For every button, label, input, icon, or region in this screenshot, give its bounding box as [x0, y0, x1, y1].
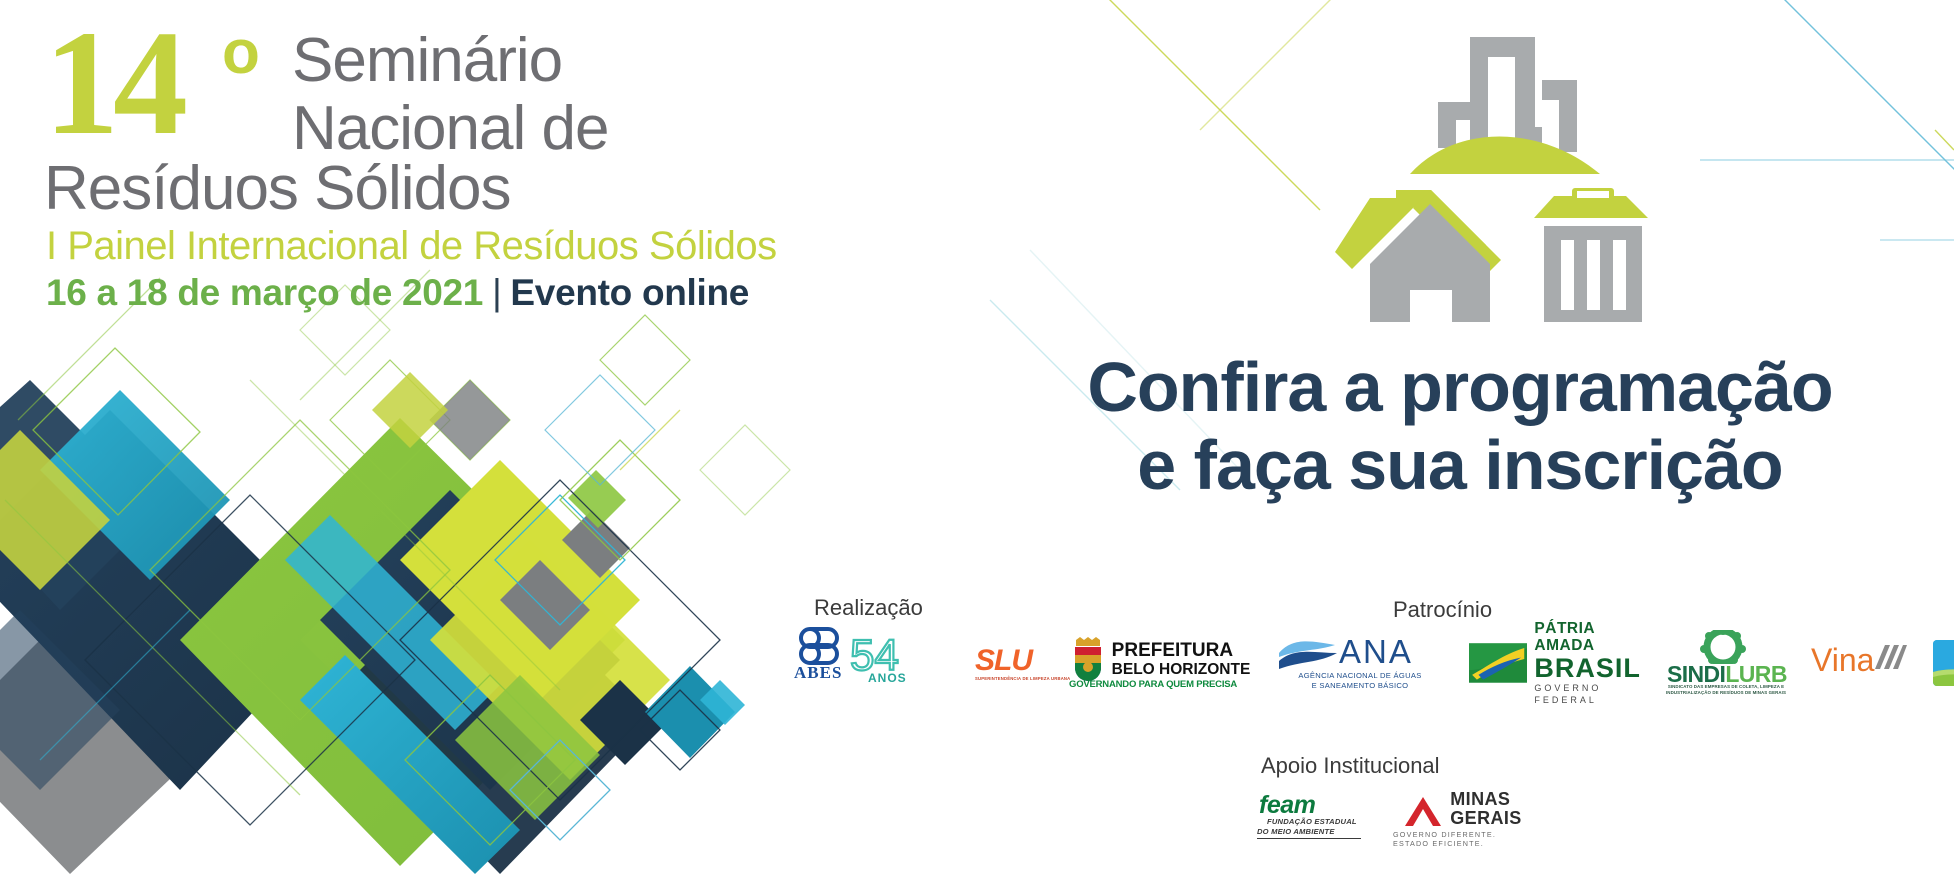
- cta-headline: Confira a programação e faça sua inscriç…: [980, 348, 1940, 504]
- title-line-1: Seminário: [292, 30, 562, 92]
- edition-number: 14: [44, 8, 182, 158]
- ana-wordmark: ANA: [1339, 635, 1413, 669]
- city-skyline-icon: [1438, 37, 1577, 152]
- slu-wordmark: SLU: [975, 644, 1032, 678]
- apoio-institucional-logos: feam FUNDAÇÃO ESTADUAL DO MEIO AMBIENTE …: [1255, 790, 1531, 842]
- cta-line-2: e faça sua inscrição: [980, 426, 1940, 504]
- slu-subtitle: SUPERINTENDÊNCIA DE LIMPEZA URBANA: [975, 676, 1043, 681]
- minas-gerais-tagline: GOVERNO DIFERENTE. ESTADO EFICIENTE.: [1393, 830, 1543, 849]
- vina-slashes-icon: [1873, 643, 1907, 673]
- ana-subtitle-line-1: AGÊNCIA NACIONAL DE ÁGUAS: [1277, 671, 1443, 681]
- minas-gerais-tagline-line-2: ESTADO EFICIENTE.: [1393, 839, 1543, 848]
- feam-wordmark: feam: [1259, 792, 1315, 818]
- brasil-line-3: GOVERNO FEDERAL: [1534, 682, 1641, 706]
- brasil-flag-icon: [1469, 638, 1527, 688]
- waste-management-illustration: [1335, 12, 1655, 322]
- event-dates: 16 a 18 de março de 2021: [46, 272, 483, 313]
- sindilurb-logo[interactable]: SINDILURB SINDICATO DAS EMPRESAS DE COLE…: [1667, 632, 1785, 694]
- dateline-separator: |: [483, 272, 510, 313]
- minas-gerais-logo[interactable]: MINAS GERAIS GOVERNO DIFERENTE. ESTADO E…: [1393, 790, 1531, 842]
- sindilurb-subtitle-line-1: SINDICATO DAS EMPRESAS DE COLETA, LIMPEZ…: [1661, 684, 1791, 690]
- vina-wordmark: Vina: [1811, 643, 1874, 677]
- patrocinio-logos: SLU SUPERINTENDÊNCIA DE LIMPEZA URBANA P…: [975, 632, 1954, 694]
- abes-anos-label: ANOS: [868, 671, 907, 685]
- sindilurb-people-circle-icon: [1693, 630, 1753, 664]
- brasil-text: PÁTRIA AMADA BRASIL GOVERNO FEDERAL: [1534, 620, 1641, 706]
- cisab-wordmark: cisab: [1933, 644, 1954, 672]
- brasil-line-2: BRASIL: [1534, 654, 1641, 682]
- ana-subtitle-line-2: E SANEAMENTO BÁSICO: [1277, 681, 1443, 691]
- feam-subtitle-line-2: DO MEIO AMBIENTE: [1257, 827, 1361, 839]
- vina-logo[interactable]: Vina: [1811, 641, 1907, 685]
- title-line-2: Nacional de: [292, 98, 608, 160]
- apoio-institucional-label: Apoio Institucional: [1261, 753, 1440, 779]
- title-line-3: Resíduos Sólidos: [44, 158, 511, 220]
- realizacao-label: Realização: [814, 595, 923, 621]
- ana-logo[interactable]: ANA AGÊNCIA NACIONAL DE ÁGUAS E SANEAMEN…: [1277, 637, 1443, 689]
- prefeitura-bh-logo[interactable]: PREFEITURA BELO HORIZONTE GOVERNANDO PAR…: [1069, 637, 1251, 689]
- governo-federal-logo[interactable]: PÁTRIA AMADA BRASIL GOVERNO FEDERAL: [1469, 635, 1641, 691]
- edition-line: 14 o Seminário Nacional de Resíduos Sóli…: [44, 14, 744, 174]
- minas-gerais-line-2: GERAIS: [1450, 809, 1521, 828]
- belo-horizonte-coat-of-arms-icon: [1070, 637, 1106, 683]
- sindilurb-subtitle-line-2: INDUSTRIALIZAÇÃO DE RESÍDUOS DE MINAS GE…: [1661, 690, 1791, 696]
- ana-wave-icon: [1277, 639, 1339, 673]
- feam-subtitle-line-1: FUNDAÇÃO ESTADUAL: [1267, 817, 1367, 827]
- abes-mark-icon: [796, 626, 850, 666]
- ana-subtitle: AGÊNCIA NACIONAL DE ÁGUAS E SANEAMENTO B…: [1277, 671, 1443, 691]
- minas-gerais-text: MINAS GERAIS: [1450, 790, 1521, 828]
- edition-ordinal: o: [222, 22, 260, 84]
- event-title-block: 14 o Seminário Nacional de Resíduos Sóli…: [44, 14, 744, 174]
- event-banner: 14 o Seminário Nacional de Resíduos Sóli…: [0, 0, 1954, 874]
- feam-logo[interactable]: feam FUNDAÇÃO ESTADUAL DO MEIO AMBIENTE: [1255, 792, 1367, 840]
- prefeitura-line-1: PREFEITURA: [1112, 641, 1251, 661]
- trash-bin-icon: [1534, 188, 1648, 322]
- cisab-logo[interactable]: cisab zona da mata: [1933, 640, 1954, 686]
- slu-logo[interactable]: SLU SUPERINTENDÊNCIA DE LIMPEZA URBANA: [975, 640, 1043, 686]
- house-icon: [1335, 190, 1501, 322]
- event-dateline: 16 a 18 de março de 2021|Evento online: [46, 272, 749, 314]
- event-format: Evento online: [510, 272, 749, 313]
- prefeitura-line-2: BELO HORIZONTE: [1112, 661, 1251, 678]
- minas-gerais-tagline-line-1: GOVERNO DIFERENTE.: [1393, 830, 1543, 839]
- sindilurb-subtitle: SINDICATO DAS EMPRESAS DE COLETA, LIMPEZ…: [1661, 684, 1791, 695]
- cisab-subtitle: zona da mata: [1933, 672, 1954, 682]
- realizacao-logos: ABES 54 ANOS: [790, 626, 920, 688]
- minas-gerais-mountain-icon: [1402, 790, 1444, 830]
- patrocinio-label: Patrocínio: [1393, 597, 1492, 623]
- event-subtitle: I Painel Internacional de Resíduos Sólid…: [46, 224, 777, 268]
- abes-wordmark: ABES: [794, 663, 842, 683]
- brasil-line-1: PÁTRIA AMADA: [1534, 620, 1641, 654]
- prefeitura-bh-text: PREFEITURA BELO HORIZONTE: [1112, 637, 1251, 678]
- minas-gerais-line-1: MINAS: [1450, 790, 1521, 809]
- sindilurb-wordmark: SINDILURB: [1667, 662, 1785, 686]
- abes-logo[interactable]: ABES 54 ANOS: [790, 626, 920, 688]
- cta-line-1: Confira a programação: [980, 348, 1940, 426]
- prefeitura-tagline: GOVERNANDO PARA QUEM PRECISA: [1069, 679, 1251, 690]
